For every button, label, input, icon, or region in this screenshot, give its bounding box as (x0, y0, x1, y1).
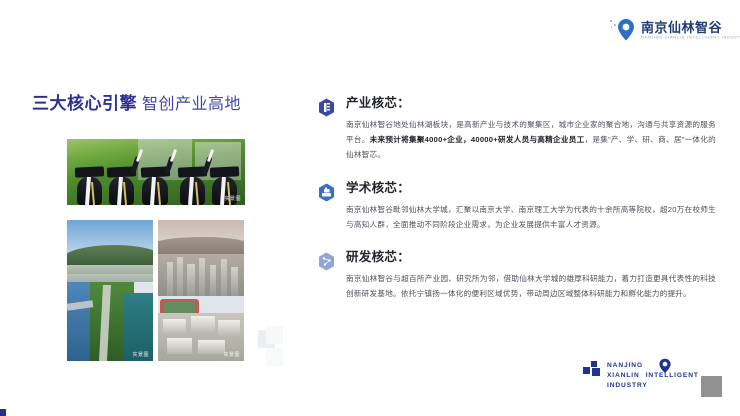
research-hex-icon (318, 252, 335, 271)
block-body-pre: 南京仙林智谷与超百所产业园、研究所为邻，借助仙林大学城的雄厚科研能力，着力打造更… (346, 274, 716, 298)
footer-logo-line3: INDUSTRY (607, 381, 697, 391)
decorative-square (266, 348, 283, 366)
content-block-research: 研发核芯： 南京仙林智谷与超百所产业园、研究所为邻，借助仙林大学城的雄厚科研能力… (318, 250, 716, 301)
photo-caption: 实景图 (224, 195, 241, 202)
page-title: 三大核心引擎智创产业高地 (32, 89, 241, 114)
industry-hex-icon (318, 98, 335, 117)
footer-logo-line1: NANJING (607, 361, 697, 371)
content-block-industry: 产业核芯： 南京仙林智谷地处仙林湖板块，是高新产业与技术的聚集区，城市企业家的聚… (318, 96, 716, 163)
decorative-gray-square (701, 376, 722, 397)
photo-caption: 实景图 (223, 351, 240, 358)
decorative-square (266, 326, 283, 344)
block-body: 南京仙林智谷地处仙林湖板块，是高新产业与技术的聚集区，城市企业家的聚合地，沟通与… (346, 117, 716, 163)
block-heading: 学术核芯： (346, 181, 716, 196)
riverside-aerial-photo: 实景图 (67, 220, 153, 361)
header-logo-en: NANJING XIANLIN INTELLIGENT INDUSTRY (641, 37, 740, 41)
block-body: 南京仙林智谷毗邻仙林大学城，汇聚以南京大学、南京理工大学为代表的十余所高等院校，… (346, 202, 716, 232)
block-heading: 产业核芯： (346, 96, 716, 111)
cityscape-aerial-photo: 实景图 (158, 220, 244, 361)
page-title-sub: 智创产业高地 (142, 96, 241, 113)
block-body-pre: 南京仙林智谷毗邻仙林大学城，汇聚以南京大学、南京理工大学为代表的十余所高等院校，… (346, 205, 716, 229)
footer-logo-line2b: INTELLIGENT (646, 372, 699, 379)
academic-hex-icon (318, 183, 335, 202)
header-logo: 南京仙林智谷 NANJING XIANLIN INTELLIGENT INDUS… (610, 16, 722, 44)
footer-logo-line2a: XIANLIN (607, 372, 640, 379)
page-title-main: 三大核心引擎 (32, 94, 137, 113)
graduation-photo: 实景图 (67, 139, 245, 205)
header-logo-cn: 南京仙林智谷 (641, 21, 722, 34)
block-body: 南京仙林智谷与超百所产业园、研究所为邻，借助仙林大学城的雄厚科研能力，着力打造更… (346, 271, 716, 301)
content-blocks: 产业核芯： 南京仙林智谷地处仙林湖板块，是高新产业与技术的聚集区，城市企业家的聚… (318, 96, 716, 319)
footer-logo-line2: XIANLININTELLIGENT (607, 371, 697, 381)
logo-blocks-icon (583, 361, 605, 377)
block-body-bold: 未来预计将集聚4000+企业，40000+研发人员与高精企业员工 (370, 135, 585, 144)
content-block-academic: 学术核芯： 南京仙林智谷毗邻仙林大学城，汇聚以南京大学、南京理工大学为代表的十余… (318, 181, 716, 232)
location-pin-icon (610, 16, 636, 44)
decorative-navy-accent (0, 409, 6, 416)
block-heading: 研发核芯： (346, 250, 716, 265)
slide-canvas: 南京仙林智谷 NANJING XIANLIN INTELLIGENT INDUS… (0, 0, 740, 416)
photo-caption: 实景图 (132, 351, 149, 358)
footer-logo: NANJING XIANLININTELLIGENT INDUSTRY (583, 360, 695, 400)
